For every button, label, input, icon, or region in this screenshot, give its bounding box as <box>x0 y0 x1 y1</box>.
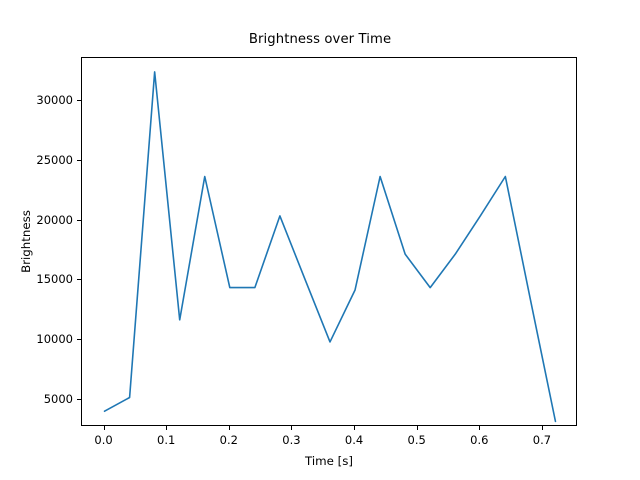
x-tick-mark <box>166 426 167 430</box>
x-tick-mark <box>229 426 230 430</box>
y-tick-label: 20000 <box>11 213 73 227</box>
x-tick-label: 0.2 <box>199 433 259 447</box>
x-tick-mark <box>104 426 105 430</box>
x-tick-label: 0.5 <box>387 433 447 447</box>
x-tick-mark <box>542 426 543 430</box>
chart-title: Brightness over Time <box>0 32 640 47</box>
x-tick-label: 0.7 <box>512 433 572 447</box>
chart-figure: Brightness over Time Brightness 50001000… <box>0 0 640 480</box>
y-tick-label: 30000 <box>11 93 73 107</box>
y-tick-label: 15000 <box>11 272 73 286</box>
y-tick-label: 10000 <box>11 332 73 346</box>
y-tick-mark <box>77 160 81 161</box>
x-tick-label: 0.0 <box>74 433 134 447</box>
y-tick-mark <box>77 339 81 340</box>
x-tick-mark <box>291 426 292 430</box>
y-tick-label: 5000 <box>11 392 73 406</box>
y-tick-mark <box>77 220 81 221</box>
y-tick-mark <box>77 279 81 280</box>
y-tick-mark <box>77 100 81 101</box>
line-series-brightness <box>105 72 556 421</box>
x-axis-label: Time [s] <box>81 454 577 468</box>
x-tick-mark <box>417 426 418 430</box>
x-tick-mark <box>354 426 355 430</box>
x-tick-label: 0.6 <box>449 433 509 447</box>
y-tick-mark <box>77 399 81 400</box>
plot-area <box>81 57 577 426</box>
x-tick-label: 0.1 <box>136 433 196 447</box>
y-tick-label: 25000 <box>11 153 73 167</box>
x-tick-label: 0.4 <box>324 433 384 447</box>
x-tick-mark <box>479 426 480 430</box>
x-tick-label: 0.3 <box>261 433 321 447</box>
y-axis-tick-labels: 50001000015000200002500030000 <box>6 0 73 480</box>
data-series-line <box>82 58 578 427</box>
